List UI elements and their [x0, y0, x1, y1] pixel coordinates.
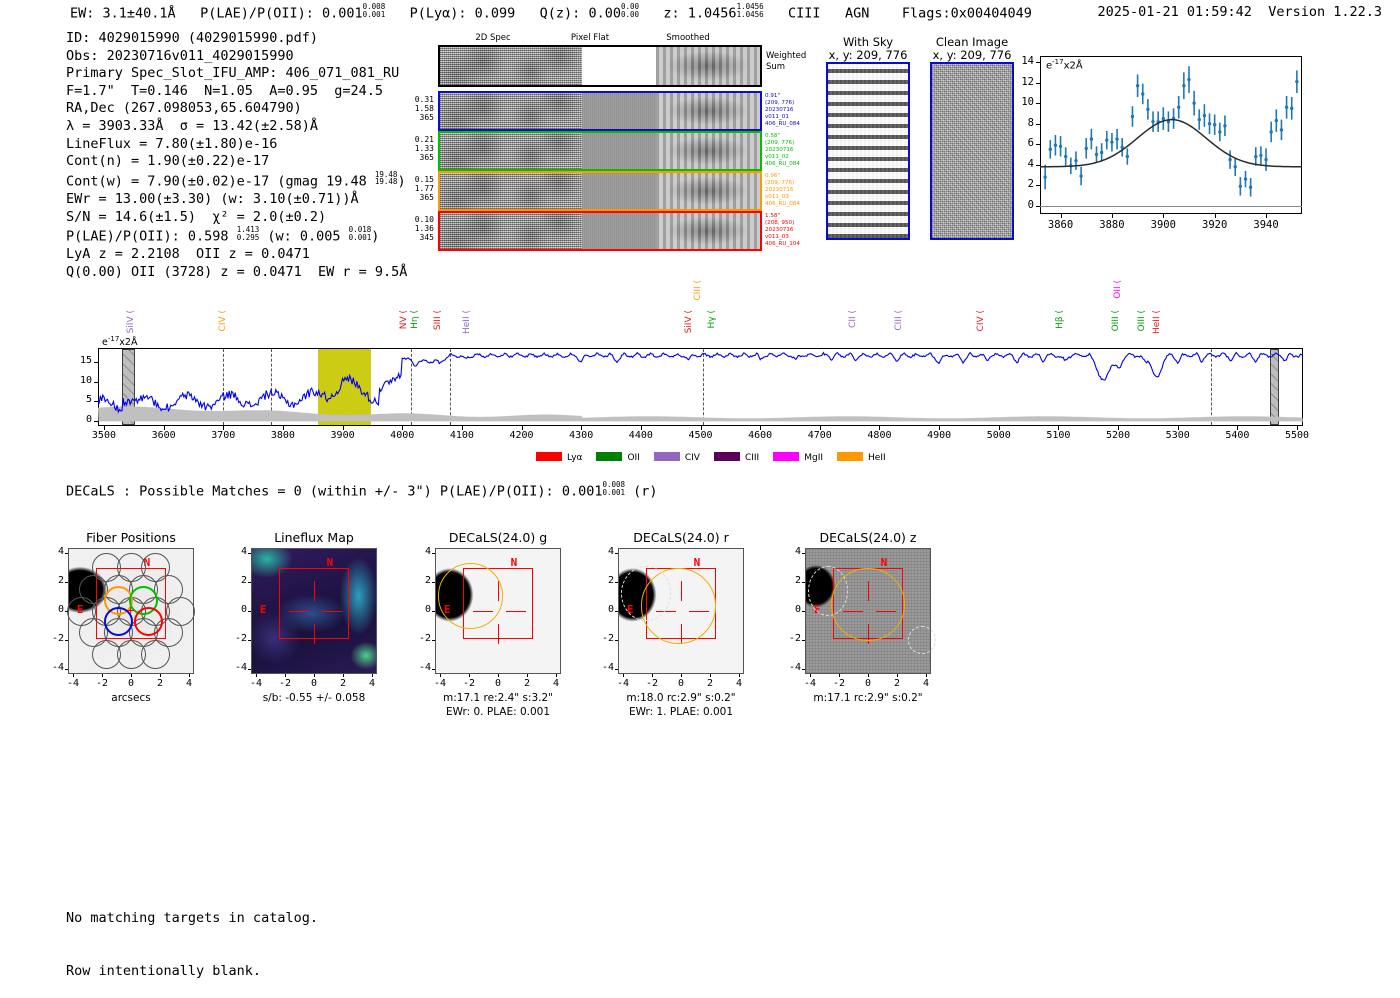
fiber-pixelflat — [582, 173, 656, 209]
spectrum-line-label: CIII ( — [894, 310, 904, 331]
compass-north-label: N — [327, 556, 334, 569]
fiber-meta-line: 406_RU_084 — [765, 161, 800, 168]
fiber-pixelflat — [582, 93, 656, 129]
fiber-meta-line: 406_RU_084 — [765, 121, 800, 128]
weighted-sum-2dspec — [440, 47, 582, 85]
info-ewr: EWr = 13.00(±3.30) (w: 3.10(±0.71))Å — [66, 191, 407, 209]
footer-line-2: Row intentionally blank. — [66, 963, 318, 981]
spectrum-ytick — [94, 382, 98, 383]
stamp-subtitle-text: x, y: 209, 776 — [808, 49, 928, 62]
cutout-ytick — [432, 669, 435, 670]
fiber-meta-line: 0.58" — [765, 133, 800, 140]
fiber-center-marker: + — [127, 603, 134, 617]
spectrum-xtick-label: 5300 — [1152, 430, 1204, 441]
header-version: Version 1.22.3 — [1268, 4, 1382, 20]
info-plae: P(LAE)/P(OII): 0.598 1.4130.295 (w: 0.00… — [66, 226, 407, 246]
header-ew: EW: 3.1±40.1Å — [70, 6, 176, 22]
spectrum-ytick-label: 5 — [66, 394, 92, 405]
cutout-ytick-label: 0 — [411, 604, 431, 615]
fiber-left-metrics: 0.311.58365 — [398, 95, 434, 123]
info-lineflux: LineFlux = 7.80(±1.80)e-16 — [66, 136, 407, 154]
legend-item: OII — [596, 452, 639, 463]
spectrum-xtick-label: 4400 — [615, 430, 667, 441]
spectrum-line-label: Hβ ( — [1055, 310, 1065, 329]
cutout-caption: m:17.1 rc:2.9" s:0.2" — [768, 692, 968, 705]
compass-north-label: N — [694, 556, 701, 569]
spec2d-fiber-row — [438, 131, 762, 171]
fiber-2dspec — [440, 133, 582, 169]
compass-east-label: E — [260, 603, 267, 616]
weighted-sum-row — [438, 45, 762, 87]
header-flags: Flags:0x00404049 — [902, 6, 1032, 22]
cutout-xtick — [160, 674, 161, 677]
linefit-xtick-label: 3900 — [1139, 219, 1187, 231]
cutout-xtick — [652, 674, 653, 677]
info-seeing: F=1.7" T=0.146 N=1.05 A=0.95 g=24.5 — [66, 83, 407, 101]
cutout-xtick-label: 2 — [146, 678, 174, 689]
fiber-pixelflat — [582, 133, 656, 169]
linefit-xtick-label: 3920 — [1191, 219, 1239, 231]
fiber-meta-line: (209, 776) — [765, 180, 800, 187]
spectrum-xtick-label: 4000 — [376, 430, 428, 441]
linefit-ytick-label: 4 — [1006, 158, 1034, 170]
linefit-xtick-label: 3880 — [1088, 219, 1136, 231]
legend-label: OII — [627, 453, 639, 463]
spectrum-xtick-label: 5100 — [1032, 430, 1084, 441]
linefit-xtick — [1061, 214, 1062, 218]
linefit-xtick — [1215, 214, 1216, 218]
info-cont-wide: Cont(w) = 7.90(±0.02)e-17 (gmag 19.48 19… — [66, 171, 407, 191]
fiber-meta-line: 1.58" — [765, 213, 800, 220]
catalog-ellipse — [808, 566, 848, 616]
cutout-xtick — [810, 674, 811, 677]
cutout-ytick — [615, 669, 618, 670]
spectrum-ytick — [94, 362, 98, 363]
fiber-right-metadata: 0.58"(209, 776)20230716v011_02406_RU_084 — [765, 133, 800, 168]
cutout-xtick — [189, 674, 190, 677]
cutout-xtick-label: 2 — [329, 678, 357, 689]
cutout-caption-secondary: EWr: 0. PLAE: 0.001 — [398, 706, 598, 719]
fiber-meta-line: 406_RU_084 — [765, 201, 800, 208]
cutout-xtick-label: 0 — [854, 678, 882, 689]
spectrum-line-label: CIV ( — [976, 310, 986, 331]
spectrum-line-label: CII ( — [848, 310, 858, 328]
cutout-ytick-label: -2 — [44, 633, 64, 644]
cutout-ytick-label: 0 — [781, 604, 801, 615]
spec2d-column-title: 2D Spec — [475, 33, 510, 43]
cutout-ytick — [615, 640, 618, 641]
cutout-ytick-label: -2 — [781, 633, 801, 644]
info-sn-chi2: S/N = 14.6(±1.5) χ² = 2.0(±0.2) — [66, 209, 407, 227]
legend-swatch — [596, 452, 622, 461]
decals-header-value: 0.001 — [562, 484, 603, 500]
header-classification: CIII — [788, 6, 821, 22]
fiber-meta-line: (209, 776) — [765, 100, 800, 107]
cutout-ytick-label: -4 — [44, 662, 64, 673]
cutout-ytick-label: 2 — [411, 575, 431, 586]
decals-header-prefix: DECaLS : Possible Matches = 0 (within +/… — [66, 484, 554, 500]
cutout-xtick — [623, 674, 624, 677]
compass-north-label: N — [511, 556, 518, 569]
spectrum-xtick-label: 4700 — [794, 430, 846, 441]
footer-note: No matching targets in catalog. Row inte… — [66, 875, 318, 998]
cutout-ytick-label: -4 — [411, 662, 431, 673]
cutout-xtick-label: -4 — [609, 678, 637, 689]
legend-swatch — [536, 452, 562, 461]
legend-label: MgII — [804, 453, 823, 463]
spectrum-data-layer — [98, 348, 1303, 426]
fiber-meta-line: 20230716 — [765, 147, 800, 154]
cutout-ytick-label: -2 — [594, 633, 614, 644]
spectrum-xtick-label: 4100 — [436, 430, 488, 441]
linefit-ytick-label: 8 — [1006, 117, 1034, 129]
decals-header-range: 0.0080.001 — [602, 481, 625, 496]
fiber-meta-line: 0.91" — [765, 93, 800, 100]
linefit-xtick-label: 3860 — [1037, 219, 1085, 231]
fiber-right-metadata: 0.91"(209, 776)20230716v011_01406_RU_084 — [765, 93, 800, 128]
cutout-ytick — [615, 611, 618, 612]
fiber-metric: 0.15 — [398, 175, 434, 184]
cutout-xtick — [710, 674, 711, 677]
cutout-xtick-label: 0 — [667, 678, 695, 689]
cutout-xtick — [343, 674, 344, 677]
legend-item: CIV — [654, 452, 700, 463]
cutout-ytick-label: -4 — [594, 662, 614, 673]
spectrum-xtick-label: 4500 — [675, 430, 727, 441]
spec2d-fiber-row — [438, 91, 762, 131]
spectrum-xtick-label: 5000 — [973, 430, 1025, 441]
cutout-xtick-label: -4 — [242, 678, 270, 689]
cutout-xtick-label: 2 — [696, 678, 724, 689]
cutout-ytick — [802, 553, 805, 554]
spectrum-xtick-label: 5500 — [1271, 430, 1323, 441]
weighted-sum-label: Weighted Sum — [766, 51, 806, 73]
stamp-title: With Skyx, y: 209, 776 — [808, 36, 928, 62]
fiber-smoothed — [656, 133, 760, 169]
header-z-label: z: 1.0456 — [663, 6, 736, 22]
spectrum-line-label: HeII ( — [462, 310, 472, 334]
fiber-left-metrics: 0.151.77365 — [398, 175, 434, 203]
cutout-crosshair-bottom — [498, 624, 499, 644]
legend-swatch — [714, 452, 740, 461]
cutout-title: Fiber Positions — [41, 530, 221, 545]
header-agn-flag: AGN — [845, 6, 869, 22]
cutout-crosshair-bottom — [314, 624, 315, 644]
cutout-xtick-label: 0 — [117, 678, 145, 689]
header-datetime: 2025-01-21 01:59:42 — [1098, 4, 1252, 20]
fiber-metric: 0.21 — [398, 135, 434, 144]
linefit-ytick-label: 0 — [1006, 199, 1034, 211]
cutout-xtick-label: -2 — [638, 678, 666, 689]
fiber-metric: 1.36 — [398, 224, 434, 233]
cutout-xtick — [372, 674, 373, 677]
spectrum-xtick-label: 3700 — [197, 430, 249, 441]
fiber-meta-line: 20230716 — [765, 187, 800, 194]
cutout-xtick-label: 0 — [300, 678, 328, 689]
info-q-solution: Q(0.00) OII (3728) z = 0.0471 EW r = 9.5… — [66, 264, 407, 282]
weighted-sum-smoothed — [656, 47, 760, 85]
fiber-meta-line: (209, 776) — [765, 140, 800, 147]
legend-swatch — [654, 452, 680, 461]
spectrum-ytick-label: 10 — [66, 375, 92, 386]
cutout-ytick-label: 2 — [44, 575, 64, 586]
cutout-xtick — [469, 674, 470, 677]
linefit-xtick — [1163, 214, 1164, 218]
fiber-metric: 0.10 — [398, 215, 434, 224]
cutout-ytick — [432, 582, 435, 583]
cutout-xlabel: arcsecs — [51, 692, 211, 705]
cutout-ytick — [248, 582, 251, 583]
linefit-xtick-label: 3940 — [1242, 219, 1290, 231]
compass-north-label: N — [881, 556, 888, 569]
cutout-xtick-label: 2 — [883, 678, 911, 689]
spectrum-line-label: OII ( — [1113, 280, 1123, 299]
stamp-image-sky — [826, 62, 910, 240]
cutout-ytick — [65, 611, 68, 612]
fiber-2dspec — [440, 213, 582, 249]
info-plae-range: 1.4130.295 — [237, 226, 260, 241]
cutout-xtick — [926, 674, 927, 677]
cutout-xtick — [73, 674, 74, 677]
spectrum-line-label: SiIV ( — [126, 310, 136, 333]
spectrum-legend: LyαOIICIVCIIIMgIIHeII — [536, 452, 900, 463]
cutout-xtick — [556, 674, 557, 677]
cutout-ytick — [432, 640, 435, 641]
header-qz-label: Q(z): 0.00 — [540, 6, 621, 22]
cutout-ytick-label: 4 — [227, 546, 247, 557]
spec2d-column-title: Smoothed — [666, 33, 709, 43]
spectrum-ytick — [94, 421, 98, 422]
cutout-xtick-label: 0 — [484, 678, 512, 689]
spectrum-ytick-label: 15 — [66, 355, 92, 366]
cutout-xtick — [839, 674, 840, 677]
cutout-ytick — [802, 582, 805, 583]
header-plae-value: 0.001 — [322, 6, 363, 22]
linefit-ytick-label: 6 — [1006, 137, 1034, 149]
fiber-metric: 1.77 — [398, 184, 434, 193]
catalog-ellipse-secondary — [908, 626, 936, 654]
cutout-xtick — [498, 674, 499, 677]
fiber-metric: 0.31 — [398, 95, 434, 104]
cutout-xtick-label: -2 — [825, 678, 853, 689]
info-lambda-sigma: λ = 3903.33Å σ = 13.42(±2.58)Å — [66, 118, 407, 136]
spectrum-xtick-label: 4600 — [734, 430, 786, 441]
cutout-xtick — [285, 674, 286, 677]
legend-swatch — [837, 452, 863, 461]
cutout-ytick-label: 0 — [44, 604, 64, 615]
spectrum-line-label: Hη ( — [410, 310, 420, 329]
cutout-xtick-label: 4 — [725, 678, 753, 689]
spectrum-xtick-label: 3800 — [257, 430, 309, 441]
cutout-xtick — [256, 674, 257, 677]
cutout-ytick — [248, 611, 251, 612]
cutout-xtick — [681, 674, 682, 677]
header-plae-label: P(LAE)/P(OII): — [200, 6, 314, 22]
spectrum-xtick-label: 4800 — [853, 430, 905, 441]
cutout-xtick — [314, 674, 315, 677]
fiber-metric: 365 — [398, 193, 434, 202]
spectrum-xtick-label: 5400 — [1211, 430, 1263, 441]
linefit-ytick-label: 14 — [1006, 55, 1034, 67]
cutout-ytick — [432, 611, 435, 612]
cutout-xtick-label: -2 — [455, 678, 483, 689]
spectrum-line-label: SIII ( — [433, 310, 443, 330]
spec2d-fiber-row — [438, 171, 762, 211]
linefit-data-layer — [1040, 56, 1302, 214]
fiber-smoothed — [656, 93, 760, 129]
cutout-xtick — [868, 674, 869, 677]
spectrum-line-label: OIII ( — [1137, 310, 1147, 331]
cutout-ytick — [615, 582, 618, 583]
cutout-xtick-label: 4 — [358, 678, 386, 689]
cutout-ytick — [802, 611, 805, 612]
spec2d-fiber-row — [438, 211, 762, 251]
cutout-ytick — [802, 669, 805, 670]
fiber-meta-line: v011_02 — [765, 154, 800, 161]
footer-line-1: No matching targets in catalog. — [66, 910, 318, 928]
header-z-range: 1.04561.0456 — [737, 3, 764, 18]
cutout-ytick-label: 0 — [227, 604, 247, 615]
legend-label: HeII — [868, 453, 886, 463]
cutout-xtick-label: 4 — [175, 678, 203, 689]
fiber-meta-line: 406_RU_104 — [765, 241, 800, 248]
stamp-image-clean — [930, 62, 1014, 240]
info-radec: RA,Dec (267.098053,65.604790) — [66, 100, 407, 118]
spectrum-ytick-label: 0 — [66, 414, 92, 425]
header-timestamp-block: 2025-01-21 01:59:42 Version 1.22.3 — [1098, 4, 1383, 20]
fiber-left-metrics: 0.101.36345 — [398, 215, 434, 243]
cutout-ytick-label: 4 — [781, 546, 801, 557]
cutout-ytick — [432, 553, 435, 554]
cutout-ytick-label: -4 — [227, 662, 247, 673]
cutout-ytick — [248, 553, 251, 554]
spectrum-xtick-label: 4900 — [913, 430, 965, 441]
spectrum-line-label: CIV ( — [218, 310, 228, 331]
cutout-ytick-label: -2 — [227, 633, 247, 644]
fiber-metric: 365 — [398, 113, 434, 122]
fiber-2dspec — [440, 173, 582, 209]
cutout-xtick — [527, 674, 528, 677]
spectrum-line-label: NV ( — [399, 310, 409, 329]
legend-item: CIII — [714, 452, 759, 463]
cutout-crosshair-right — [506, 611, 526, 612]
cutout-xtick — [739, 674, 740, 677]
cutout-ytick — [65, 582, 68, 583]
fiber-2dspec — [440, 93, 582, 129]
cutout-ytick — [65, 553, 68, 554]
linefit-xtick — [1112, 214, 1113, 218]
fiber-metric: 1.33 — [398, 144, 434, 153]
cutout-ytick — [615, 553, 618, 554]
cutout-ytick — [248, 669, 251, 670]
cutout-ytick-label: 0 — [594, 604, 614, 615]
legend-label: CIV — [685, 453, 700, 463]
decals-header-suffix: (r) — [633, 484, 657, 500]
fiber-meta-line: v011_03 — [765, 194, 800, 201]
cutout-xtick-label: 2 — [513, 678, 541, 689]
fiber-smoothed — [656, 173, 760, 209]
cutout-title: DECaLS(24.0) z — [778, 530, 958, 545]
legend-item: MgII — [773, 452, 823, 463]
spectrum-xtick-label: 4300 — [555, 430, 607, 441]
cutout-ytick — [65, 669, 68, 670]
header-qz-range: 0.000.00 — [621, 3, 639, 18]
cutout-xtick-label: -2 — [88, 678, 116, 689]
cutout-crosshair-left — [289, 611, 309, 612]
legend-label: Lyα — [567, 453, 582, 463]
fiber-metric: 1.58 — [398, 104, 434, 113]
fiber-meta-line: 0.96" — [765, 173, 800, 180]
cutout-crosshair-right — [322, 611, 342, 612]
fiber-right-metadata: 0.96"(209, 776)20230716v011_03406_RU_084 — [765, 173, 800, 208]
info-id: ID: 4029015990 (4029015990.pdf) — [66, 30, 407, 48]
info-plae-w-range: 0.0180.001 — [349, 226, 372, 241]
info-obs: Obs: 20230716v011_4029015990 — [66, 48, 407, 66]
cutout-ytick — [248, 640, 251, 641]
spectrum-xtick-label: 3900 — [317, 430, 369, 441]
linefit-xtick — [1266, 214, 1267, 218]
header-plae-range: 0.0080.001 — [363, 3, 386, 18]
spectrum-line-label: HeII ( — [1152, 310, 1162, 334]
linefit-ytick-label: 12 — [1006, 76, 1034, 88]
fiber-metric: 365 — [398, 153, 434, 162]
spectrum-xtick-label: 5200 — [1092, 430, 1144, 441]
cutout-ytick-label: 2 — [594, 575, 614, 586]
cutout-xtick-label: 4 — [912, 678, 940, 689]
cutout-caption: s/b: -0.55 +/- 0.058 — [214, 692, 414, 705]
spectrum-line-label: Hγ ( — [707, 310, 717, 328]
cutout-xtick — [897, 674, 898, 677]
info-primary-spec: Primary Spec_Slot_IFU_AMP: 406_071_081_R… — [66, 65, 407, 83]
cutout-ytick — [802, 640, 805, 641]
legend-item: Lyα — [536, 452, 582, 463]
cutout-xtick — [102, 674, 103, 677]
info-gmag-range: 19.4819.48 — [375, 171, 398, 186]
object-info-block: ID: 4029015990 (4029015990.pdf) Obs: 202… — [66, 30, 407, 282]
cutout-xtick — [440, 674, 441, 677]
cutout-xtick — [131, 674, 132, 677]
spec2d-column-title: Pixel Flat — [571, 33, 609, 43]
cutout-caption-secondary: EWr: 1. PLAE: 0.001 — [581, 706, 781, 719]
fiber-metric: 345 — [398, 233, 434, 242]
legend-swatch — [773, 452, 799, 461]
cutout-title: DECaLS(24.0) g — [408, 530, 588, 545]
cutout-xtick-label: -4 — [426, 678, 454, 689]
spectrum-units-label: e-17x2Å — [102, 335, 137, 348]
spectrum-ytick — [94, 401, 98, 402]
cutout-ytick-label: 4 — [594, 546, 614, 557]
fiber-meta-line: v011_03 — [765, 234, 800, 241]
header-summary-line: EW: 3.1±40.1Å P(LAE)/P(OII): 0.0010.0080… — [70, 4, 1032, 22]
info-cont-narrow: Cont(n) = 1.90(±0.22)e-17 — [66, 153, 407, 171]
cutout-ytick-label: -2 — [411, 633, 431, 644]
cutout-ytick-label: 2 — [781, 575, 801, 586]
cutout-caption: m:17.1 re:2.4" s:3.2" — [398, 692, 598, 705]
fiber-meta-line: 20230716 — [765, 107, 800, 114]
spectrum-xtick-label: 3500 — [78, 430, 130, 441]
header-plya: P(Lyα): 0.099 — [410, 6, 516, 22]
spectrum-line-label: OIII ( — [1111, 310, 1121, 331]
info-lya-oii-z: LyA z = 2.2108 OII z = 0.0471 — [66, 246, 407, 264]
fiber-pixelflat — [582, 213, 656, 249]
cutout-ytick — [65, 640, 68, 641]
cutout-ytick-label: 4 — [44, 546, 64, 557]
cutout-crosshair-top — [314, 581, 315, 601]
fiber-meta-line: (208, 950) — [765, 220, 800, 227]
linefit-ytick-label: 2 — [1006, 178, 1034, 190]
spectrum-line-label: SiIV ( — [684, 310, 694, 333]
linefit-ytick-label: 10 — [1006, 96, 1034, 108]
